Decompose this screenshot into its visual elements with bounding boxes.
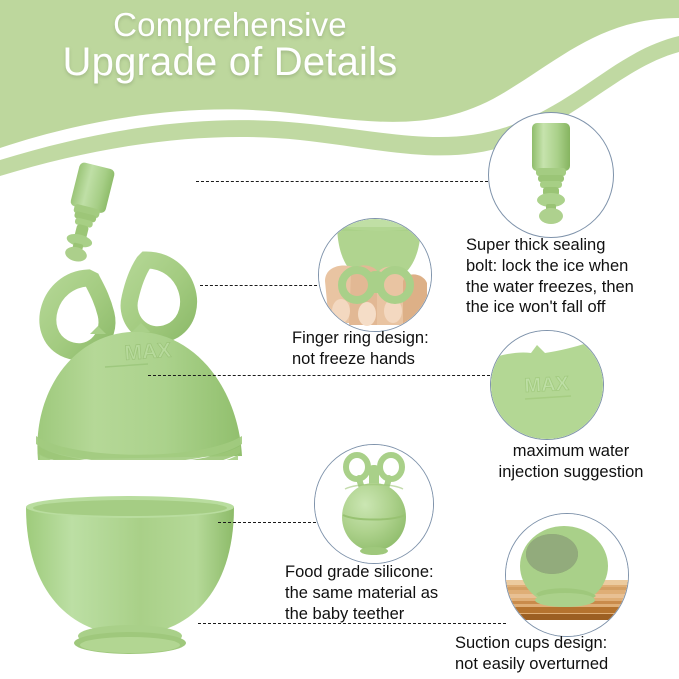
leader-line-finger-ring — [200, 285, 322, 286]
main-product-bowl-illustration — [22, 495, 242, 655]
max-marking-icon: MAX — [491, 331, 603, 439]
suction-base-part — [74, 625, 186, 654]
callout-circle-finger-ring — [318, 218, 432, 332]
caption-max: maximum water injection suggestion — [466, 441, 676, 483]
leader-line-max — [148, 375, 490, 376]
leader-line-sealing-bolt — [196, 181, 488, 182]
main-product-lid-illustration: MAX — [20, 160, 270, 460]
assembled-product-icon — [315, 445, 433, 563]
callout-circle-suction-cup — [505, 513, 629, 637]
sealing-bolt-part — [57, 162, 116, 266]
callout-circle-sealing-bolt — [488, 112, 614, 238]
bowl-part — [26, 496, 234, 635]
caption-finger-ring: Finger ring design: not freeze hands — [292, 328, 502, 370]
callout-circle-food-grade — [314, 444, 434, 564]
hand-holding-product-icon — [319, 219, 431, 331]
sealing-bolt-icon — [489, 113, 613, 237]
leader-line-food-grade — [218, 522, 316, 523]
caption-food-grade: Food grade silicone: the same material a… — [285, 562, 500, 624]
caption-sealing-bolt: Super thick sealing bolt: lock the ice w… — [466, 235, 676, 318]
product-on-board-icon — [506, 514, 628, 636]
max-label-zoom: MAX — [524, 373, 570, 397]
callout-circle-max: MAX — [490, 330, 604, 440]
max-label: MAX — [124, 339, 172, 365]
product-infographic: Comprehensive Upgrade of Details — [0, 0, 679, 679]
caption-suction-cup: Suction cups design: not easily overturn… — [455, 633, 679, 675]
